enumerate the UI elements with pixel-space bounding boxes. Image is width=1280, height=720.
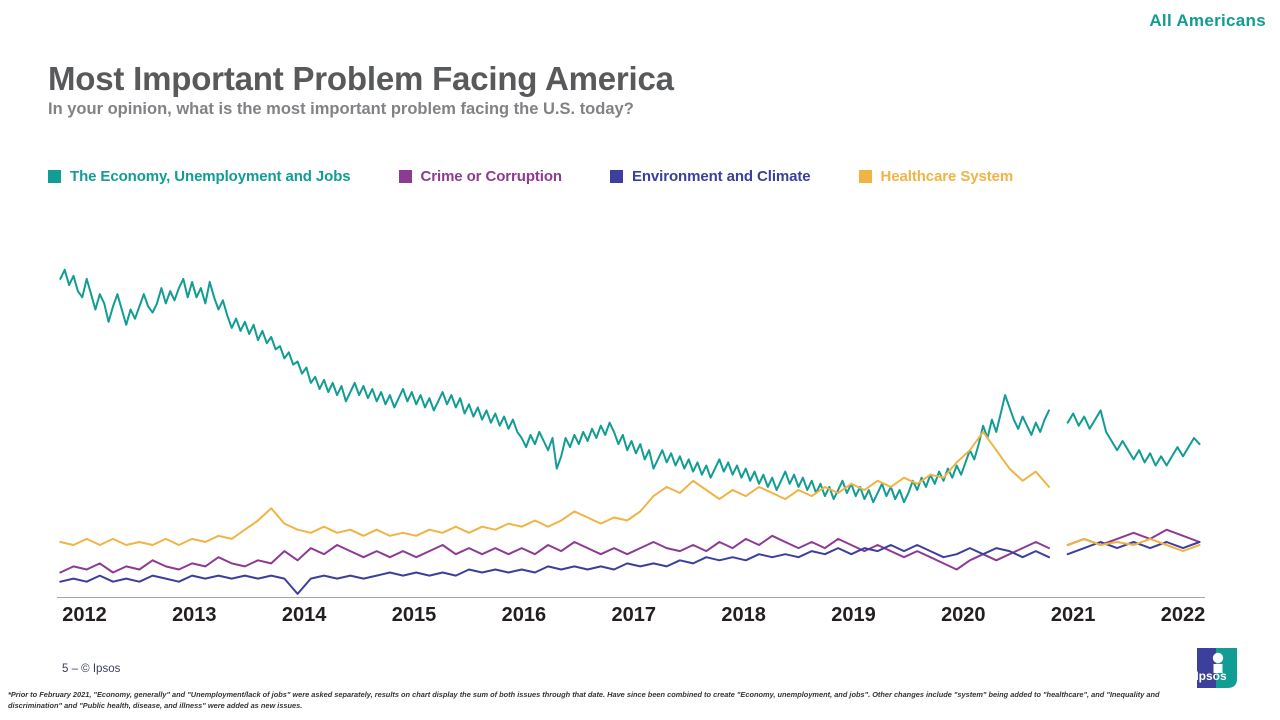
ipsos-logo: Ipsos: [1196, 645, 1242, 691]
x-axis-tick-label: 2020: [941, 604, 986, 627]
series-line: [1068, 410, 1200, 465]
chart-footnote: *Prior to February 2021, "Economy, gener…: [8, 689, 1178, 712]
ipsos-logo-text: Ipsos: [1196, 669, 1227, 683]
series-line: [1068, 530, 1200, 545]
x-axis-tick-label: 2018: [721, 604, 766, 627]
x-axis-tick-label: 2012: [62, 604, 107, 627]
x-axis-tick-label: 2017: [611, 604, 656, 627]
x-axis-tick-label: 2013: [172, 604, 217, 627]
x-axis-tick-label: 2021: [1051, 604, 1096, 627]
legend-swatch-icon: [610, 170, 623, 183]
page-title: Most Important Problem Facing America: [48, 60, 674, 98]
legend-label: Healthcare System: [881, 168, 1014, 185]
series-line: [60, 536, 1049, 573]
x-axis-tick-label: 2022: [1161, 604, 1206, 627]
x-axis-tick-label: 2014: [282, 604, 327, 627]
x-axis-tick-label: 2019: [831, 604, 876, 627]
series-line: [1068, 539, 1200, 551]
series-line: [60, 270, 1049, 502]
legend-label: Environment and Climate: [632, 168, 811, 185]
legend-item-healthcare[interactable]: Healthcare System: [859, 168, 1014, 185]
series-line: [60, 545, 1049, 594]
legend-item-economy[interactable]: The Economy, Unemployment and Jobs: [48, 168, 351, 185]
x-axis-labels: 2012201320142015201620172018201920202021…: [57, 604, 1205, 638]
legend-item-environment[interactable]: Environment and Climate: [610, 168, 811, 185]
chart-legend: The Economy, Unemployment and Jobs Crime…: [48, 168, 1013, 185]
legend-swatch-icon: [859, 170, 872, 183]
legend-swatch-icon: [399, 170, 412, 183]
page-subtitle: In your opinion, what is the most import…: [48, 100, 634, 119]
legend-label: The Economy, Unemployment and Jobs: [70, 168, 351, 185]
legend-label: Crime or Corruption: [421, 168, 562, 185]
series-line: [1068, 542, 1200, 554]
legend-swatch-icon: [48, 170, 61, 183]
legend-item-crime[interactable]: Crime or Corruption: [399, 168, 562, 185]
x-axis-tick-label: 2015: [392, 604, 437, 627]
slide-number-and-copyright: 5 – © Ipsos: [62, 663, 120, 675]
series-layer: [60, 270, 1199, 594]
ipsos-logo-mark: Ipsos: [1196, 645, 1242, 691]
series-line: [60, 432, 1049, 545]
audience-tag: All Americans: [1149, 11, 1266, 31]
x-axis-tick-label: 2016: [502, 604, 547, 627]
